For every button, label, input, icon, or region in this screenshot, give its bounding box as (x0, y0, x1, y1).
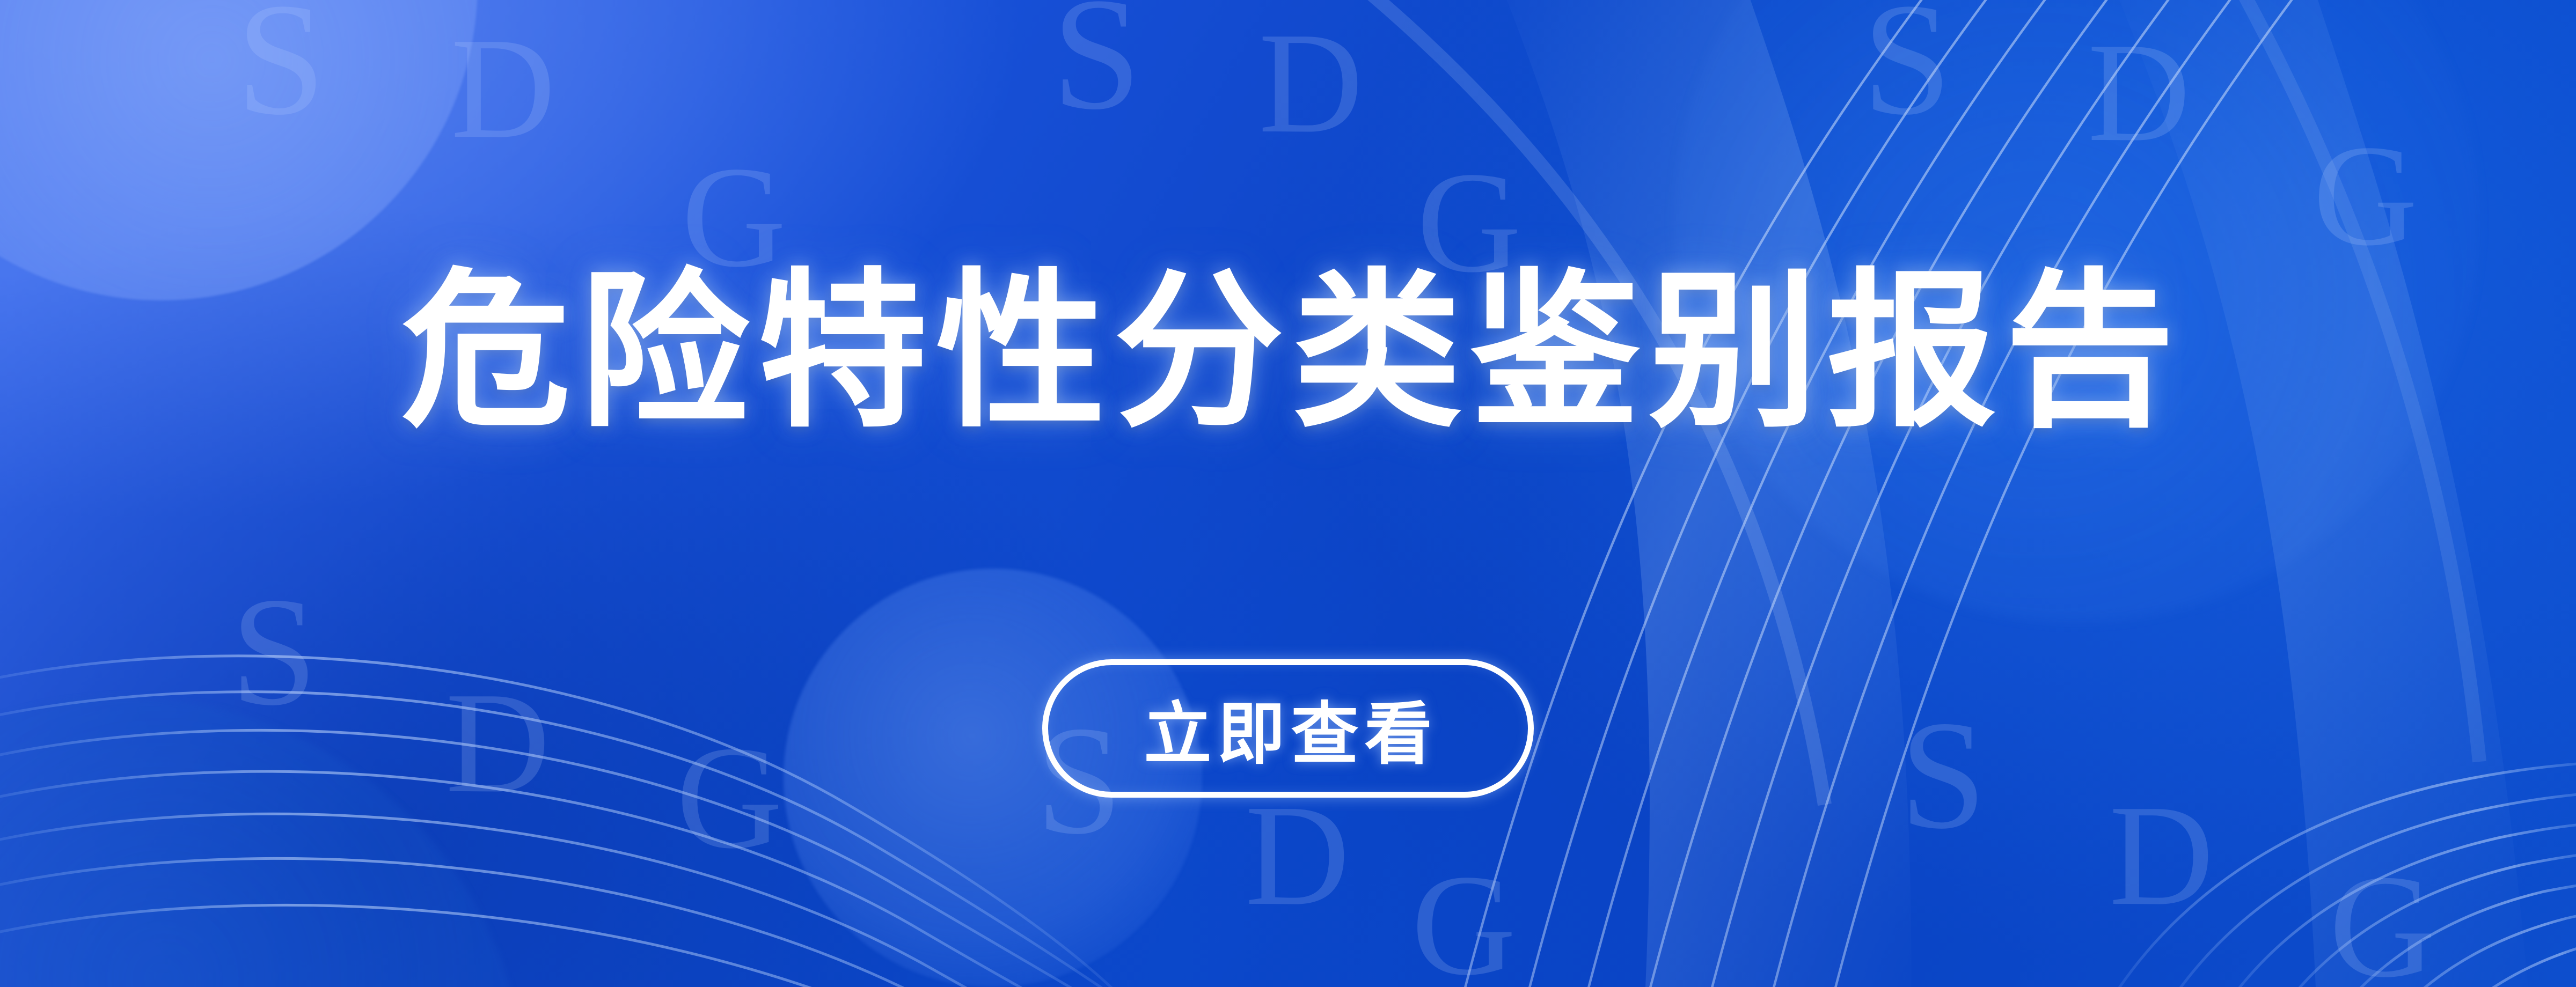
banner-title: 危险特性分类鉴别报告 (393, 266, 2183, 438)
view-now-button-label: 立即查看 (1138, 680, 1438, 777)
promo-banner: SDGSDGSDGSDGSDGSDG 危险特性分类鉴别报告 立即查看 (0, 0, 2576, 987)
view-now-button[interactable]: 立即查看 (1042, 659, 1534, 798)
banner-content: 危险特性分类鉴别报告 立即查看 (0, 0, 2576, 987)
